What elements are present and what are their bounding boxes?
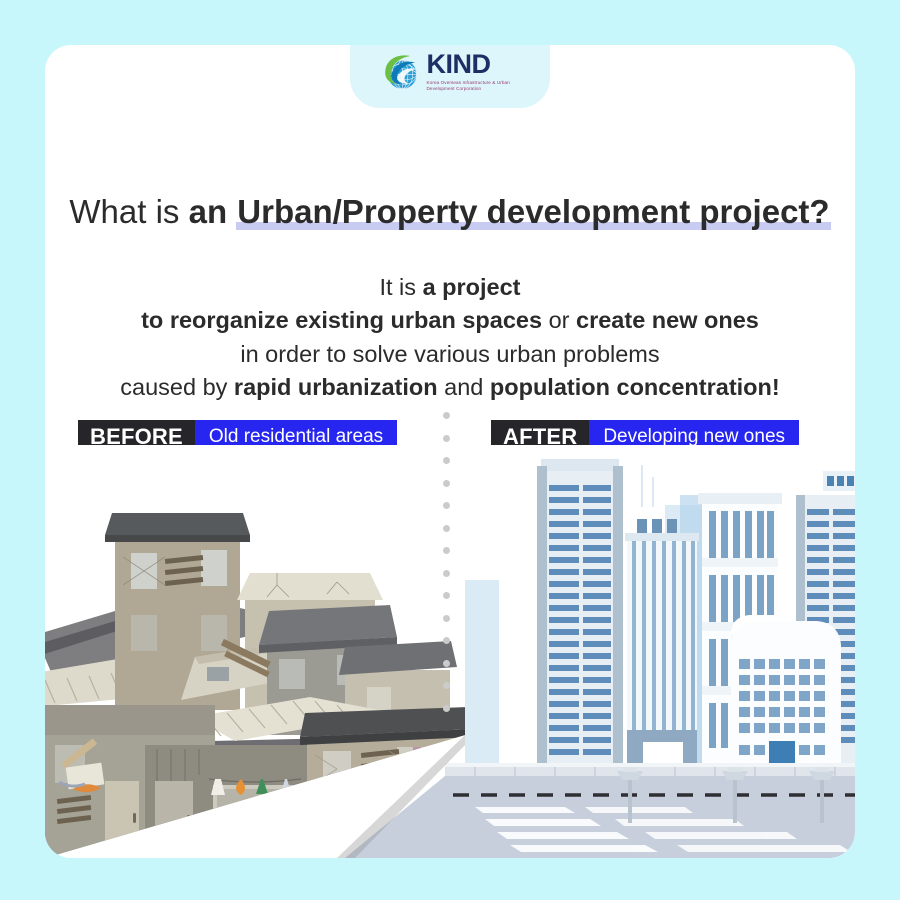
body-segment: or [542,307,576,333]
page-title: What is an Urban/Property development pr… [45,193,855,232]
before-after-illustration [45,445,855,858]
body-segment: population concentration! [490,374,780,400]
divider-dot [443,435,450,442]
body-segment: It is [379,274,422,300]
grid-midrise [731,621,841,770]
body-segment: rapid urbanization [234,374,438,400]
body-segment: caused by [120,374,234,400]
divider-dot [443,660,450,667]
heading-bold-plain: an [189,193,237,230]
logo-tagline: Korea Overseas Infrastructure & Urban De… [427,80,519,92]
heading-highlighted: Urban/Property development project? [236,193,830,230]
rooftop-sign [823,471,855,491]
divider-dot [443,547,450,554]
body-segment: a project [423,274,521,300]
divider-dot [443,705,450,712]
body-copy: It is a projectto reorganize existing ur… [45,271,855,404]
infographic-card: KIND Korea Overseas Infrastructure & Urb… [45,45,855,858]
divider-dot [443,682,450,689]
body-segment: and [438,374,490,400]
body-line: to reorganize existing urban spaces or c… [45,304,855,337]
body-line: caused by rapid urbanization and populat… [45,371,855,404]
body-segment: in order to solve various urban problems [240,341,659,367]
divider-dot [443,502,450,509]
heading-plain: What is [69,193,188,230]
kind-logo: KIND Korea Overseas Infrastructure & Urb… [382,51,519,92]
scene-svg [45,445,855,858]
divider-dot [443,570,450,577]
dotted-divider [443,412,450,712]
divider-dot [443,457,450,464]
divider-dot [443,637,450,644]
logo-name: KIND [427,51,519,78]
divider-dot [443,615,450,622]
divider-dot [443,525,450,532]
globe-swoosh-icon [382,52,422,92]
body-segment: create new ones [576,307,759,333]
divider-dot [443,412,450,419]
body-segment: to reorganize existing urban spaces [141,307,542,333]
body-line: It is a project [45,271,855,304]
divider-dot [443,592,450,599]
tower-a [537,459,623,771]
body-line: in order to solve various urban problems [45,338,855,371]
tower-b [625,519,699,770]
divider-dot [443,480,450,487]
